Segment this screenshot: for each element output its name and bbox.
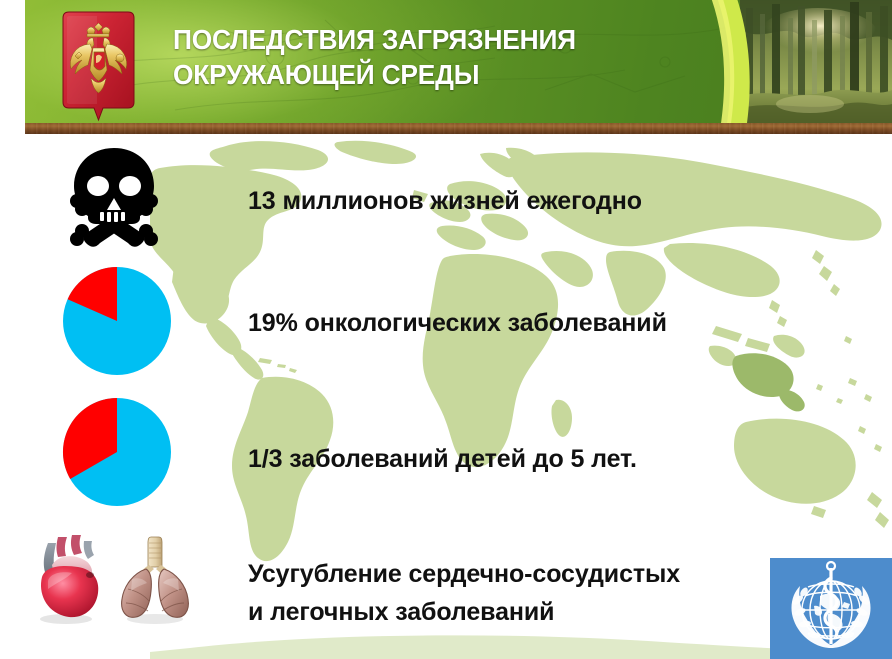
header-wood-bar: [25, 123, 892, 134]
slide-canvas: ПОСЛЕДСТВИЯ ЗАГРЯЗНЕНИЯ ОКРУЖАЮЩЕЙ СРЕДЫ: [0, 0, 892, 659]
fact-text-children-under-five: 1/3 заболеваний детей до 5 лет.: [248, 440, 637, 478]
russian-coat-of-arms-icon: [57, 8, 140, 128]
page-title: ПОСЛЕДСТВИЯ ЗАГРЯЗНЕНИЯ ОКРУЖАЮЩЕЙ СРЕДЫ: [173, 22, 699, 92]
fact-text-cancer: 19% онкологических заболеваний: [248, 304, 667, 342]
pie-chart-19-percent-icon: [60, 265, 174, 377]
forest-photo: [740, 0, 892, 123]
header-banner: ПОСЛЕДСТВИЯ ЗАГРЯЗНЕНИЯ ОКРУЖАЮЩЕЙ СРЕДЫ: [25, 0, 892, 134]
fact-text-lives-lost: 13 миллионов жизней ежегодно: [248, 182, 642, 220]
who-logo: [770, 558, 892, 659]
skull-and-crossbones-icon: [66, 146, 162, 252]
heart-icon: [22, 531, 108, 625]
pie-chart-one-third-icon: [60, 396, 174, 508]
lungs-icon: [112, 531, 198, 625]
fact-text-cardiovascular-pulmonary: Усугубление сердечно-сосудистых и легочн…: [248, 555, 680, 631]
